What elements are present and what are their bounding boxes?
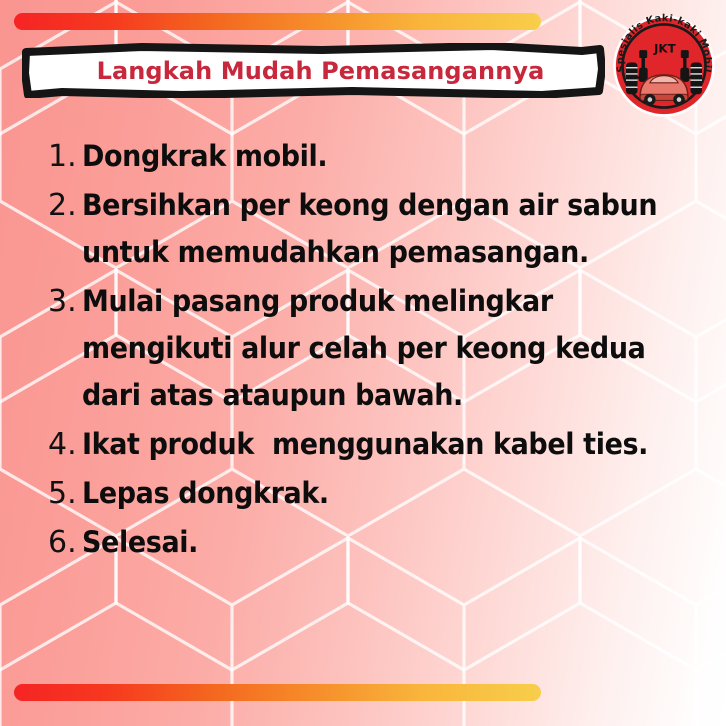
step-line: dari atas ataupun bawah.: [82, 372, 664, 419]
list-item: 3. Mulai pasang produk melingkar mengiku…: [48, 278, 708, 419]
list-item: 6. Selesai.: [48, 519, 708, 566]
step-number: 2.: [48, 182, 82, 229]
step-line: Bersihkan per keong dengan air sabun: [82, 182, 664, 229]
list-item: 2. Bersihkan per keong dengan air sabun …: [48, 182, 708, 276]
title-banner: Langkah Mudah Pemasangannya: [22, 43, 605, 98]
logo-car-icon: [640, 75, 688, 105]
list-item: 4. Ikat produk menggunakan kabel ties.: [48, 421, 708, 468]
logo-center-text: JKT: [653, 42, 677, 56]
list-item: 1. Dongkrak mobil.: [48, 133, 708, 180]
steps-list: 1. Dongkrak mobil. 2. Bersihkan per keon…: [48, 133, 708, 568]
step-number: 1.: [48, 133, 82, 180]
bottom-accent-bar: [14, 684, 541, 701]
list-item: 5. Lepas dongkrak.: [48, 470, 708, 517]
step-text: Ikat produk menggunakan kabel ties.: [82, 421, 708, 468]
top-accent-bar: [14, 13, 541, 30]
step-text: Mulai pasang produk melingkar mengikuti …: [82, 278, 708, 419]
step-text: Dongkrak mobil.: [82, 133, 708, 180]
step-line: untuk memudahkan pemasangan.: [82, 229, 664, 276]
page-title: Langkah Mudah Pemasangannya: [22, 43, 605, 98]
step-line: mengikuti alur celah per keong kedua: [82, 325, 664, 372]
step-line: Mulai pasang produk melingkar: [82, 278, 664, 325]
step-line: Dongkrak mobil.: [82, 133, 664, 180]
poster-canvas: Langkah Mudah Pemasangannya Spesialis Ka…: [0, 0, 726, 726]
step-text: Selesai.: [82, 519, 708, 566]
step-number: 5.: [48, 470, 82, 517]
step-line: Lepas dongkrak.: [82, 470, 664, 517]
step-number: 6.: [48, 519, 82, 566]
brand-logo: Spesialis Kaki-kaki Mobil JKT: [611, 13, 717, 119]
step-text: Bersihkan per keong dengan air sabun unt…: [82, 182, 708, 276]
step-number: 4.: [48, 421, 82, 468]
logo-wheel-left: [626, 62, 637, 94]
step-text: Lepas dongkrak.: [82, 470, 708, 517]
step-line: Selesai.: [82, 519, 664, 566]
step-number: 3.: [48, 278, 82, 325]
step-line: Ikat produk menggunakan kabel ties.: [82, 421, 664, 468]
logo-wheel-right: [691, 62, 702, 94]
